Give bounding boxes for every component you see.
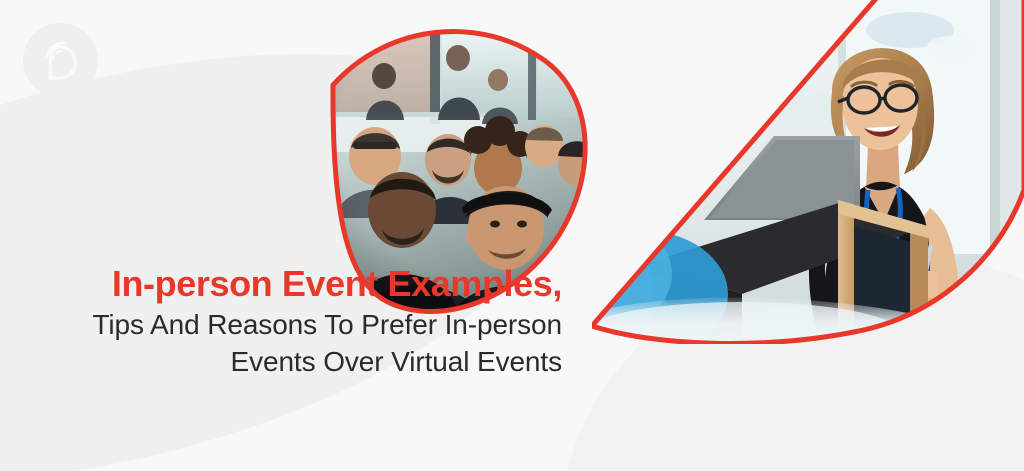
- event-banner: In-person Event Examples, Tips And Reaso…: [0, 0, 1024, 471]
- subtitle-line-1: Tips And Reasons To Prefer In-person: [24, 306, 562, 343]
- d-letter-icon: [35, 35, 87, 87]
- page-title: In-person Event Examples,: [24, 262, 562, 306]
- banner-text-block: In-person Event Examples, Tips And Reaso…: [24, 262, 562, 380]
- speaker-photo: [592, 0, 1024, 344]
- brand-logo: [23, 23, 98, 98]
- subtitle-line-2: Events Over Virtual Events: [24, 343, 562, 380]
